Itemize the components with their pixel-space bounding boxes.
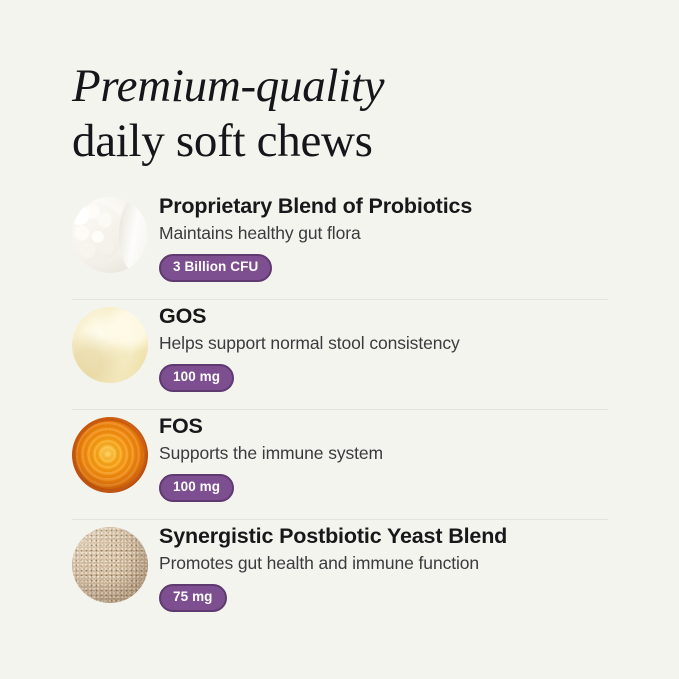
ingredient-list: Proprietary Blend of Probiotics Maintain… xyxy=(72,190,608,630)
ingredient-swatch-wrap xyxy=(72,417,148,493)
dosage-badge: 3 Billion CFU xyxy=(159,254,272,282)
ingredient-title: FOS xyxy=(159,414,608,439)
ingredient-body: Proprietary Blend of Probiotics Maintain… xyxy=(159,190,608,282)
page-title: Premium-quality daily soft chews xyxy=(72,60,612,167)
list-item: GOS Helps support normal stool consisten… xyxy=(72,300,608,410)
list-item: FOS Supports the immune system 100 mg xyxy=(72,410,608,520)
ingredient-description: Maintains healthy gut flora xyxy=(159,222,608,245)
fos-root-slice-swatch-icon xyxy=(72,417,148,493)
dosage-badge: 100 mg xyxy=(159,474,234,502)
ingredient-body: GOS Helps support normal stool consisten… xyxy=(159,300,608,392)
ingredient-title: GOS xyxy=(159,304,608,329)
ingredient-swatch-wrap xyxy=(72,527,148,603)
ingredient-swatch-wrap xyxy=(72,197,148,273)
dosage-badge: 75 mg xyxy=(159,584,227,612)
ingredient-swatch-wrap xyxy=(72,307,148,383)
dosage-badge: 100 mg xyxy=(159,364,234,392)
ingredient-description: Promotes gut health and immune function xyxy=(159,552,608,575)
list-item: Proprietary Blend of Probiotics Maintain… xyxy=(72,190,608,300)
gos-cream-swatch-icon xyxy=(72,307,148,383)
list-item: Synergistic Postbiotic Yeast Blend Promo… xyxy=(72,520,608,630)
ingredient-description: Helps support normal stool consistency xyxy=(159,332,608,355)
ingredient-body: Synergistic Postbiotic Yeast Blend Promo… xyxy=(159,520,608,612)
headline-line-2: daily soft chews xyxy=(72,115,612,168)
probiotic-cluster-swatch-icon xyxy=(72,197,148,273)
yeast-granule-swatch-icon xyxy=(72,527,148,603)
ingredient-description: Supports the immune system xyxy=(159,442,608,465)
product-benefits-panel: Premium-quality daily soft chews Proprie… xyxy=(0,0,679,679)
ingredient-body: FOS Supports the immune system 100 mg xyxy=(159,410,608,502)
headline-line-1: Premium-quality xyxy=(72,60,612,113)
ingredient-title: Synergistic Postbiotic Yeast Blend xyxy=(159,524,608,549)
ingredient-title: Proprietary Blend of Probiotics xyxy=(159,194,608,219)
